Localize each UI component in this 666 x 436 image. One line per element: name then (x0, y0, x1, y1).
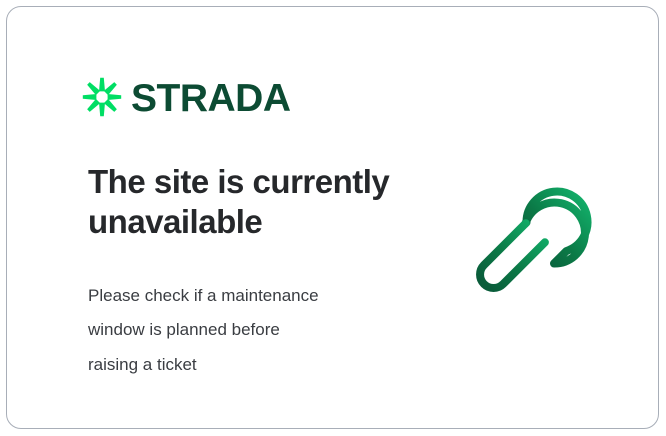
strada-asterisk-icon (82, 77, 122, 117)
body-line: Please check if a maintenance (88, 279, 433, 314)
body-line: raising a ticket (88, 348, 433, 383)
message-block: The site is currently unavailable Please… (88, 162, 433, 383)
wrench-icon (462, 159, 620, 317)
page-title: The site is currently unavailable (88, 162, 433, 243)
brand-lockup: STRADA (82, 75, 291, 119)
brand-wordmark: STRADA (131, 79, 291, 118)
status-card: STRADA The site is currently unavailable… (6, 6, 659, 429)
body-line: window is planned before (88, 313, 433, 348)
body-text: Please check if a maintenance window is … (88, 243, 433, 384)
